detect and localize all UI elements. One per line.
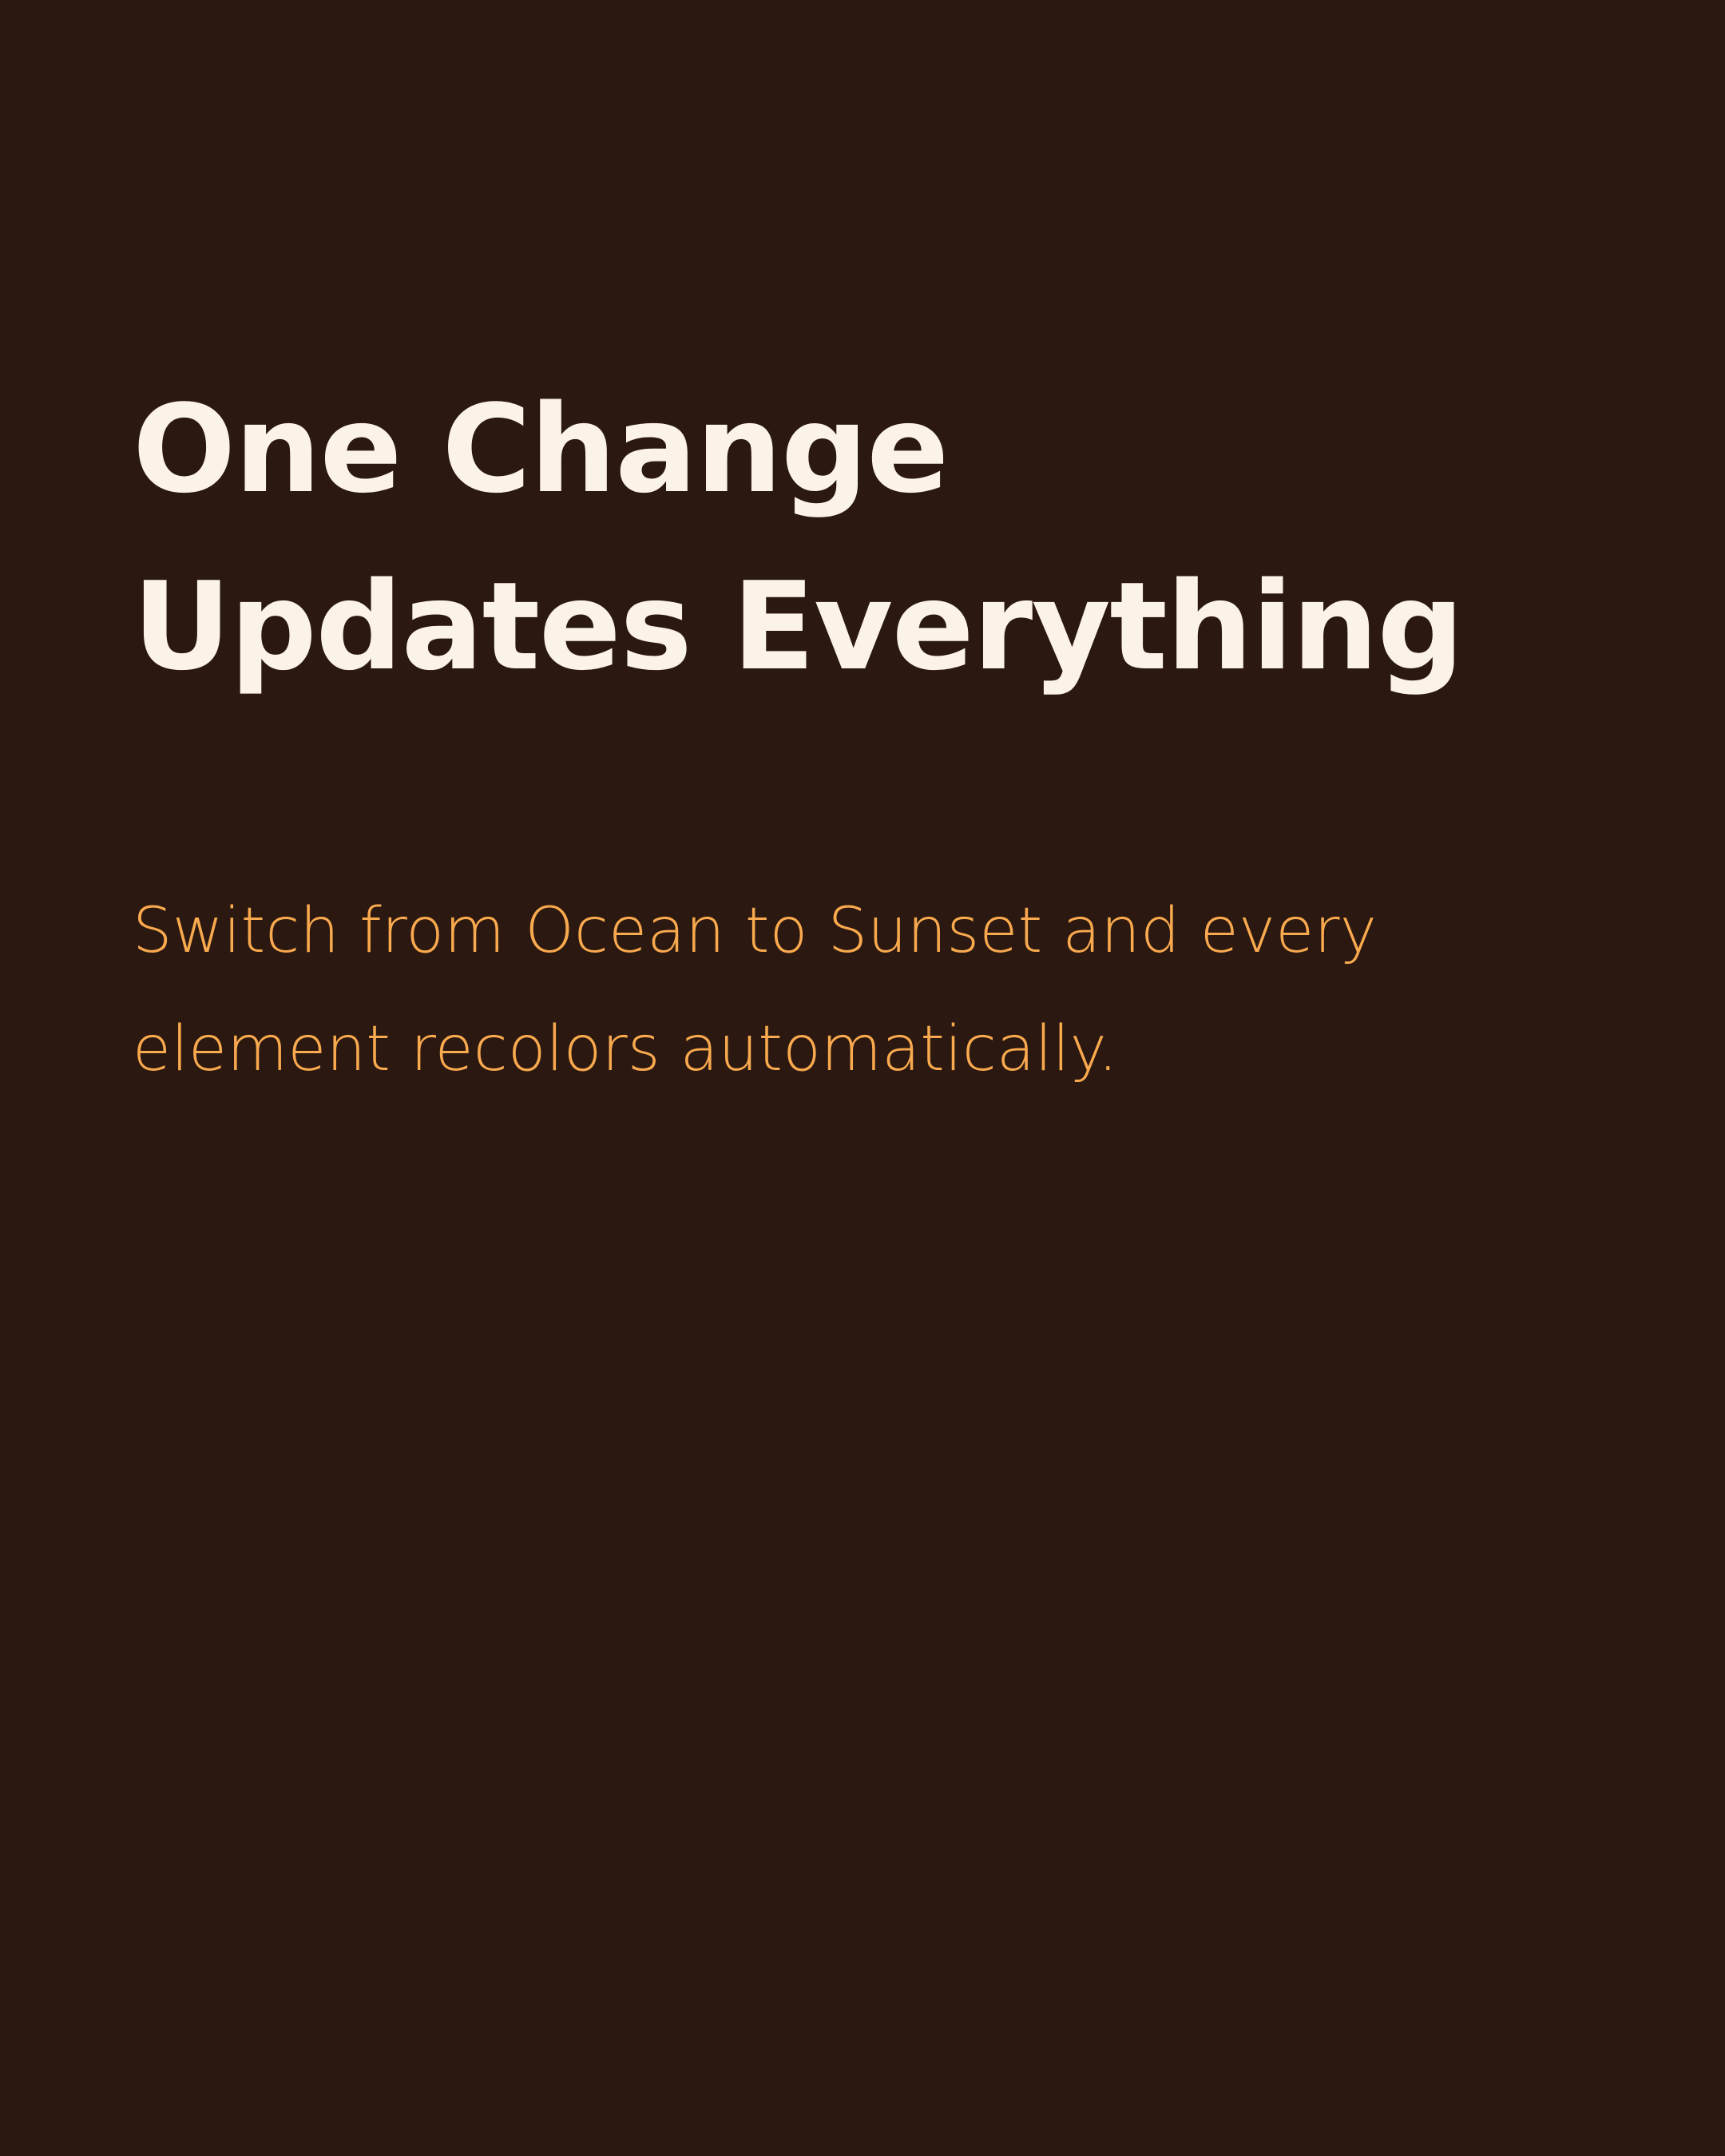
slide-canvas: One Change Updates Everything Switch fro…	[0, 0, 1725, 2156]
page-title: One Change Updates Everything	[133, 361, 1522, 715]
body-paragraph: Switch from Ocean to Sunset and every el…	[133, 872, 1458, 1108]
content-block: One Change Updates Everything Switch fro…	[133, 361, 1562, 1108]
